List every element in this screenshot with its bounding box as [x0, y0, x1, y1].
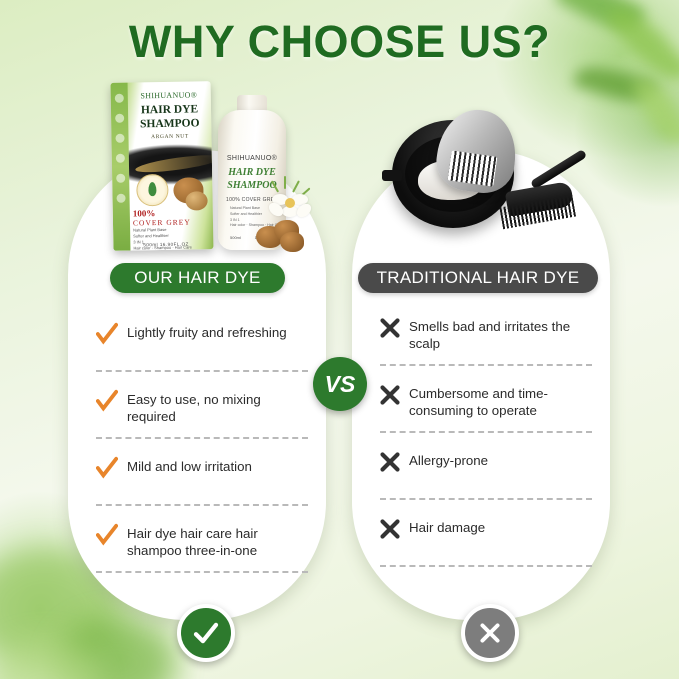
page-title: WHY CHOOSE US?	[0, 16, 679, 68]
list-item-label: Allergy-prone	[409, 446, 488, 470]
our-hair-dye-label: OUR HAIR DYE	[110, 263, 285, 293]
check-circle-icon	[191, 618, 221, 648]
box-variant: ARGAN NUT	[131, 133, 208, 140]
list-item-label: Smells bad and irritates the scalp	[409, 312, 592, 352]
check-icon	[96, 523, 118, 547]
benefits-list: Lightly fruity and refreshing Easy to us…	[96, 318, 308, 586]
list-item: Cumbersome and time-consuming to operate	[380, 379, 592, 433]
verdict-negative-badge	[461, 604, 519, 662]
cross-icon	[380, 317, 400, 339]
list-item: Smells bad and irritates the scalp	[380, 312, 592, 366]
vs-badge: VS	[313, 357, 367, 411]
list-item: Mild and low irritation	[96, 452, 308, 506]
check-icon	[96, 389, 118, 413]
box-brand: SHIHUANUO®	[131, 90, 207, 100]
list-item-label: Easy to use, no mixing required	[127, 385, 308, 425]
list-item-label: Hair dye hair care hair shampoo three-in…	[127, 519, 308, 559]
list-item: Lightly fruity and refreshing	[96, 318, 308, 372]
traditional-hair-dye-label: TRADITIONAL HAIR DYE	[358, 263, 598, 293]
leaf-decoration	[630, 71, 679, 150]
list-item: Easy to use, no mixing required	[96, 385, 308, 439]
list-item: Hair dye hair care hair shampoo three-in…	[96, 519, 308, 573]
cross-icon	[380, 518, 400, 540]
box-title-line1: HAIR DYE	[131, 103, 208, 116]
cross-circle-icon	[477, 620, 503, 646]
box-title-line2: SHAMPOO	[131, 117, 208, 130]
list-item-label: Cumbersome and time-consuming to operate	[409, 379, 592, 419]
check-icon	[96, 456, 118, 480]
bokeh-decoration	[56, 618, 176, 679]
list-item-label: Mild and low irritation	[127, 452, 252, 476]
cross-icon	[380, 384, 400, 406]
check-icon	[96, 322, 118, 346]
bokeh-decoration	[0, 640, 100, 679]
cross-icon	[380, 451, 400, 473]
infographic-canvas: WHY CHOOSE US? SHIHUANUO® HAIR DYE SHAMP…	[0, 0, 679, 679]
list-item-label: Lightly fruity and refreshing	[127, 318, 287, 342]
drawbacks-list: Smells bad and irritates the scalp Cumbe…	[380, 312, 592, 580]
verdict-positive-badge	[177, 604, 235, 662]
list-item: Allergy-prone	[380, 446, 592, 500]
list-item-label: Hair damage	[409, 513, 485, 537]
list-item: Hair damage	[380, 513, 592, 567]
bottle-cap	[237, 95, 267, 113]
